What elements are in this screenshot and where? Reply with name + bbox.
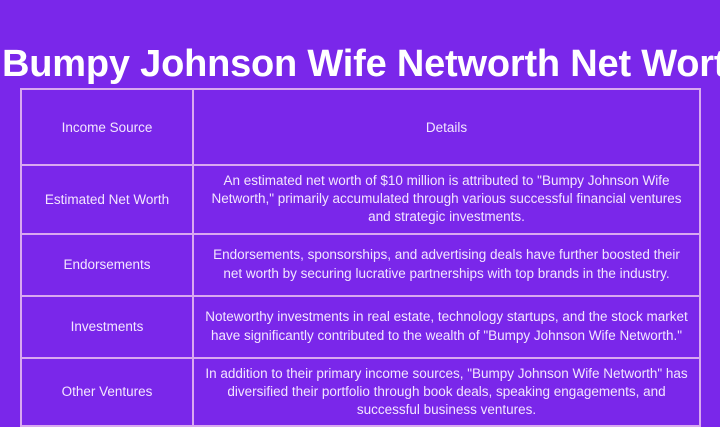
cell-income-source: Other Ventures — [21, 358, 193, 427]
column-header-details: Details — [193, 89, 700, 165]
cell-details: In addition to their primary income sour… — [193, 358, 700, 427]
cell-details: Noteworthy investments in real estate, t… — [193, 296, 700, 358]
cell-income-source: Investments — [21, 296, 193, 358]
cell-income-source: Endorsements — [21, 234, 193, 296]
page-root: Bumpy Johnson Wife Networth Net Worth In… — [0, 0, 720, 409]
cell-details: Endorsements, sponsorships, and advertis… — [193, 234, 700, 296]
table-header-row: Income Source Details — [21, 89, 700, 165]
table-header: Income Source Details — [21, 89, 700, 165]
cell-details: An estimated net worth of $10 million is… — [193, 165, 700, 234]
table-row: Estimated Net Worth An estimated net wor… — [21, 165, 700, 234]
table-row: Other Ventures In addition to their prim… — [21, 358, 700, 427]
networth-table: Income Source Details Estimated Net Wort… — [20, 88, 701, 427]
table-body: Estimated Net Worth An estimated net wor… — [21, 165, 700, 426]
cell-income-source: Estimated Net Worth — [21, 165, 193, 234]
networth-table-container: Income Source Details Estimated Net Wort… — [20, 88, 701, 399]
column-header-income-source: Income Source — [21, 89, 193, 165]
table-row: Endorsements Endorsements, sponsorships,… — [21, 234, 700, 296]
table-row: Investments Noteworthy investments in re… — [21, 296, 700, 358]
page-title: Bumpy Johnson Wife Networth Net Worth — [2, 41, 720, 87]
